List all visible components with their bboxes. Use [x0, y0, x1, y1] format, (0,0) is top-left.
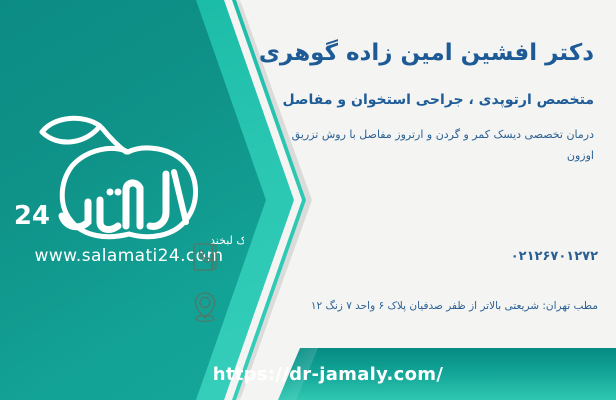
logo-badge-24: 24 — [14, 201, 50, 231]
contact-row-phone: ۰۲۱۲۶۷۰۱۲۷۲ — [178, 240, 598, 274]
logo-mark-icon: 24 براحتی یک لبخند — [14, 104, 244, 254]
service-description: درمان تخصصی دیسک کمر و گردن و ارتروز مفا… — [274, 125, 594, 167]
phone-number[interactable]: ۰۲۱۲۶۷۰۱۲۷۲ — [222, 247, 598, 267]
doctor-specialty: متخصص ارتوپدی ، جراحی استخوان و مفاصل — [194, 90, 594, 111]
business-card: 24 براحتی یک لبخند www.salamati24.com دک… — [0, 0, 616, 400]
contact-block: ۰۲۱۲۶۷۰۱۲۷۲ مطب تهران: شریعتی بالاتر از … — [178, 240, 598, 340]
contact-row-address: مطب تهران: شریعتی بالاتر از ظفر صدفیان پ… — [178, 290, 598, 324]
location-pin-icon — [188, 290, 222, 324]
phone-book-icon — [188, 240, 222, 274]
clinic-address: مطب تهران: شریعتی بالاتر از ظفر صدفیان پ… — [222, 299, 598, 315]
doctor-name: دکتر افشین امین زاده گوهری — [194, 38, 594, 69]
